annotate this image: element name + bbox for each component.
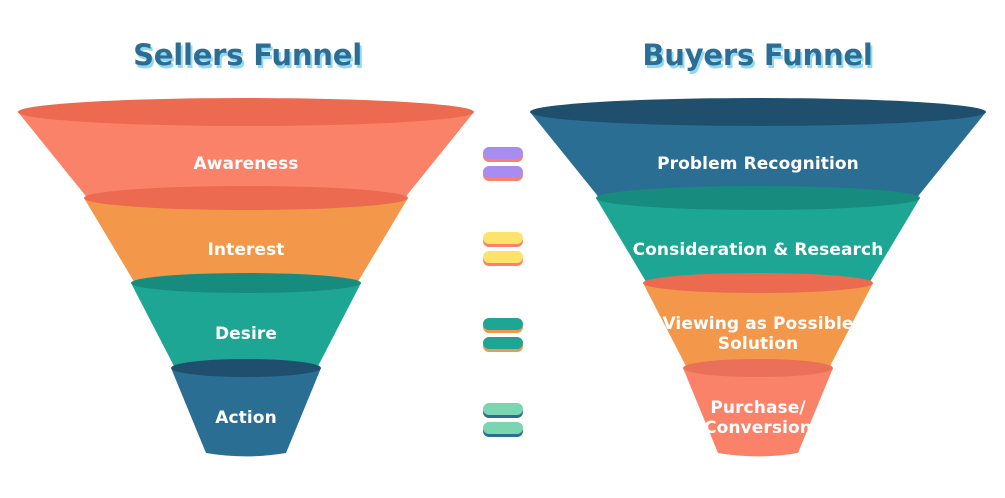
stage-top-cap (530, 98, 986, 126)
connector-bar (483, 403, 527, 418)
connector-awareness[interactable] (483, 147, 527, 185)
connector-bar-fill (483, 251, 523, 263)
stage-body (683, 368, 833, 456)
connector-bar (483, 337, 527, 352)
stage-top-cap (683, 359, 833, 377)
connector-bar-fill (483, 422, 523, 434)
connector-bar-fill (483, 337, 523, 349)
funnel-diagram: Sellers Funnel Buyers Funnel AwarenessIn… (0, 0, 1005, 498)
connector-bar (483, 232, 527, 247)
buyers-funnel-stage-4 (683, 359, 833, 456)
connector-bar-fill (483, 318, 523, 330)
connector-bar (483, 318, 527, 333)
stage-top-cap (643, 273, 873, 293)
connector-bar (483, 147, 527, 162)
stage-top-cap (596, 186, 920, 210)
connector-interest[interactable] (483, 232, 527, 270)
buyers-funnel-stage-3 (643, 273, 873, 374)
connector-bar-fill (483, 403, 523, 415)
connector-bar-fill (483, 147, 523, 159)
connector-desire[interactable] (483, 318, 527, 356)
connector-bar (483, 166, 527, 181)
connector-bar-fill (483, 166, 523, 178)
connector-bar (483, 422, 527, 437)
connector-bar-fill (483, 232, 523, 244)
connector-bar (483, 251, 527, 266)
connector-action[interactable] (483, 403, 527, 441)
